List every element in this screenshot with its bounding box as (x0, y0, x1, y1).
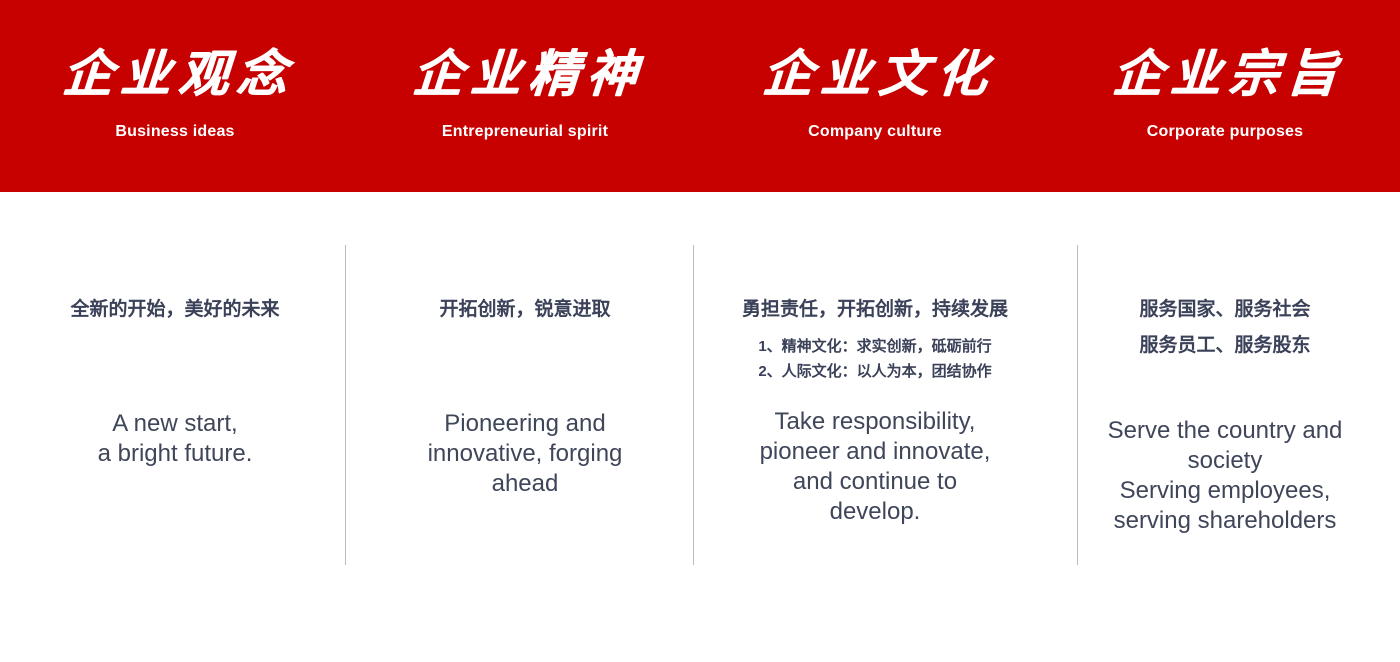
body-english-company-culture: Take responsibility, pioneer and innovat… (760, 407, 991, 527)
header-cell-company-culture: 企业文化 Company culture (700, 0, 1050, 192)
header-cjk-title-corporate-purposes: 企业宗旨 (1103, 44, 1347, 104)
header-cell-business-ideas: 企业观念 Business ideas (0, 0, 350, 192)
body-english-line: develop. (760, 497, 991, 527)
body-cjk-heading-line: 服务员工、服务股东 (1139, 328, 1310, 364)
body-cjk-heading-company-culture: 勇担责任，开拓创新，持续发展 (742, 292, 1008, 328)
body-english-line: Serve the country and (1108, 416, 1343, 446)
header-en-subtitle-business-ideas: Business ideas (115, 122, 234, 142)
header-cjk-title-entrepreneurial-spirit: 企业精神 (403, 44, 647, 104)
body-english-line: ahead (428, 469, 623, 499)
body-column-corporate-purposes: 服务国家、服务社会 服务员工、服务股东 Serve the country an… (1050, 192, 1400, 662)
body-english-line: Pioneering and (428, 409, 623, 439)
body-english-line: Serving employees, (1108, 476, 1343, 506)
body-english-corporate-purposes: Serve the country and society Serving em… (1108, 416, 1343, 536)
body-cjk-heading-line: 服务国家、服务社会 (1139, 292, 1310, 328)
body-english-line: a bright future. (98, 439, 253, 469)
header-cjk-title-business-ideas: 企业观念 (53, 44, 297, 104)
body-cjk-heading-corporate-purposes: 服务国家、服务社会 服务员工、服务股东 (1139, 292, 1310, 364)
body-english-line: and continue to (760, 467, 991, 497)
body-cjk-heading-business-ideas: 全新的开始，美好的未来 (70, 292, 279, 328)
body-column-business-ideas: 全新的开始，美好的未来 A new start, a bright future… (0, 192, 350, 662)
header-cjk-title-company-culture: 企业文化 (753, 44, 997, 104)
header-cell-entrepreneurial-spirit: 企业精神 Entrepreneurial spirit (350, 0, 700, 192)
body-english-entrepreneurial-spirit: Pioneering and innovative, forging ahead (428, 409, 623, 499)
body-column-company-culture: 勇担责任，开拓创新，持续发展 1、精神文化：求实创新，砥砺前行 2、人际文化：以… (700, 192, 1050, 662)
body-cjk-heading-entrepreneurial-spirit: 开拓创新，锐意进取 (439, 292, 610, 328)
body-area: 全新的开始，美好的未来 A new start, a bright future… (0, 192, 1400, 662)
culture-sub-list: 1、精神文化：求实创新，砥砺前行 2、人际文化：以人为本，团结协作 (758, 334, 991, 384)
body-cjk-heading-line: 勇担责任，开拓创新，持续发展 (742, 292, 1008, 328)
body-english-line: Take responsibility, (760, 407, 991, 437)
body-english-line: innovative, forging (428, 439, 623, 469)
header-cell-corporate-purposes: 企业宗旨 Corporate purposes (1050, 0, 1400, 192)
culture-sub-item-spiritual: 1、精神文化：求实创新，砥砺前行 (758, 334, 991, 359)
body-english-line: pioneer and innovate, (760, 437, 991, 467)
body-english-line: society (1108, 446, 1343, 476)
body-column-entrepreneurial-spirit: 开拓创新，锐意进取 Pioneering and innovative, for… (350, 192, 700, 662)
header-en-subtitle-company-culture: Company culture (808, 122, 942, 142)
header-en-subtitle-entrepreneurial-spirit: Entrepreneurial spirit (442, 122, 608, 142)
body-english-line: A new start, (98, 409, 253, 439)
corporate-values-board: 企业观念 Business ideas 企业精神 Entrepreneurial… (0, 0, 1400, 662)
culture-sub-item-interpersonal: 2、人际文化：以人为本，团结协作 (758, 359, 991, 384)
body-english-line: serving shareholders (1108, 506, 1343, 536)
body-cjk-heading-line: 全新的开始，美好的未来 (70, 292, 279, 328)
header-en-subtitle-corporate-purposes: Corporate purposes (1147, 122, 1304, 142)
body-english-business-ideas: A new start, a bright future. (98, 409, 253, 469)
header-band: 企业观念 Business ideas 企业精神 Entrepreneurial… (0, 0, 1400, 192)
body-cjk-heading-line: 开拓创新，锐意进取 (439, 292, 610, 328)
